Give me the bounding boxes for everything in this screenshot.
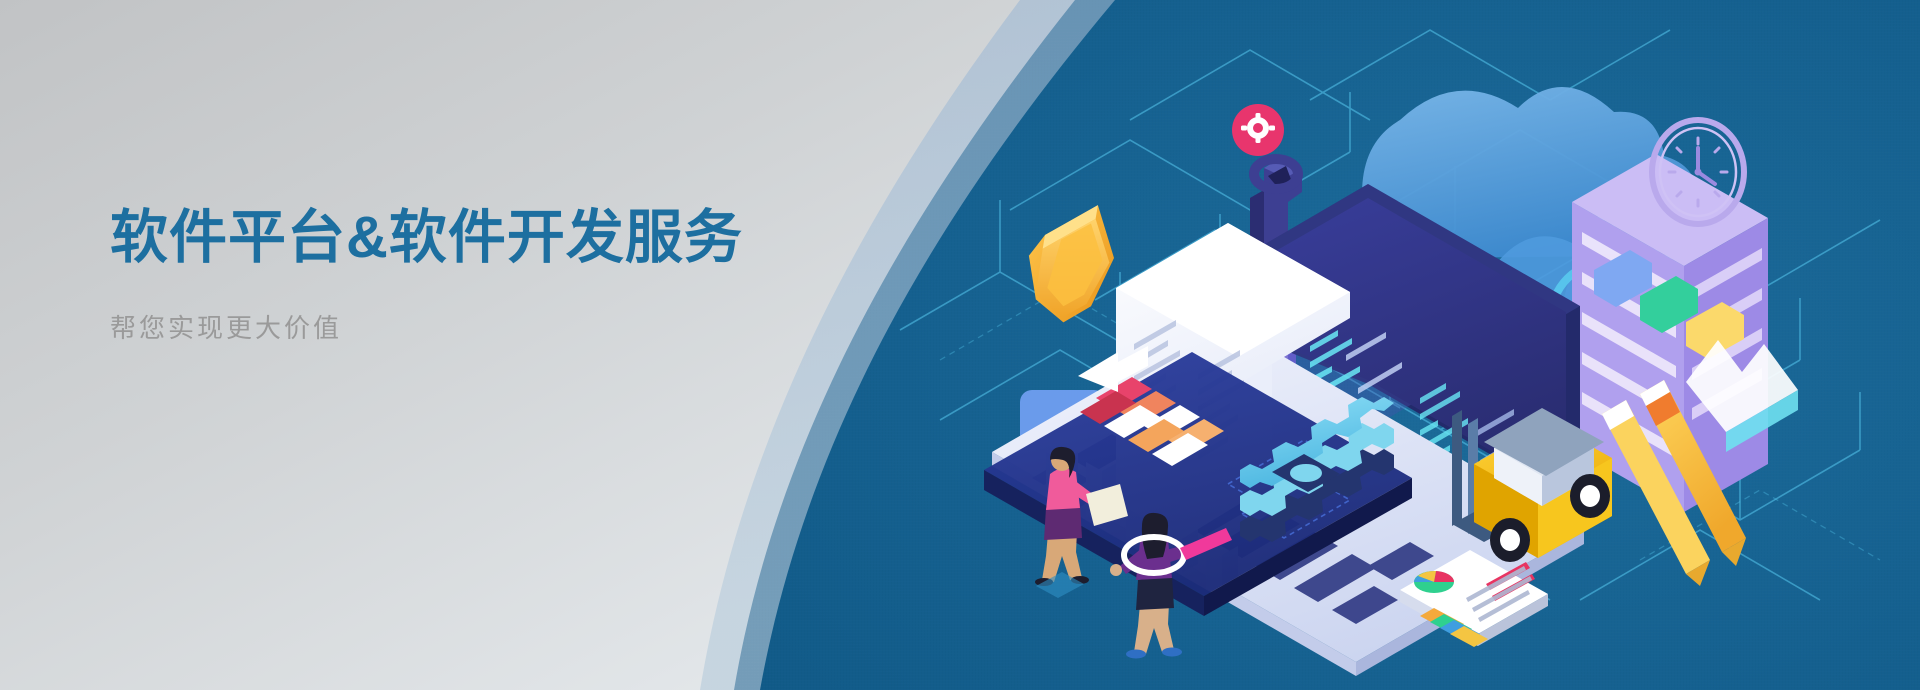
page-subtitle: 帮您实现更大价值 [110,308,870,345]
text-block: 软件平台&软件开发服务 帮您实现更大价值 [110,205,870,345]
page-title: 软件平台&软件开发服务 [110,205,870,272]
pie-chart-icon [1414,571,1454,593]
gear-badge-icon [1232,104,1284,156]
grey-curve-panel [0,0,1200,690]
promo-banner: 软件平台&软件开发服务 帮您实现更大价值 [0,0,1920,690]
